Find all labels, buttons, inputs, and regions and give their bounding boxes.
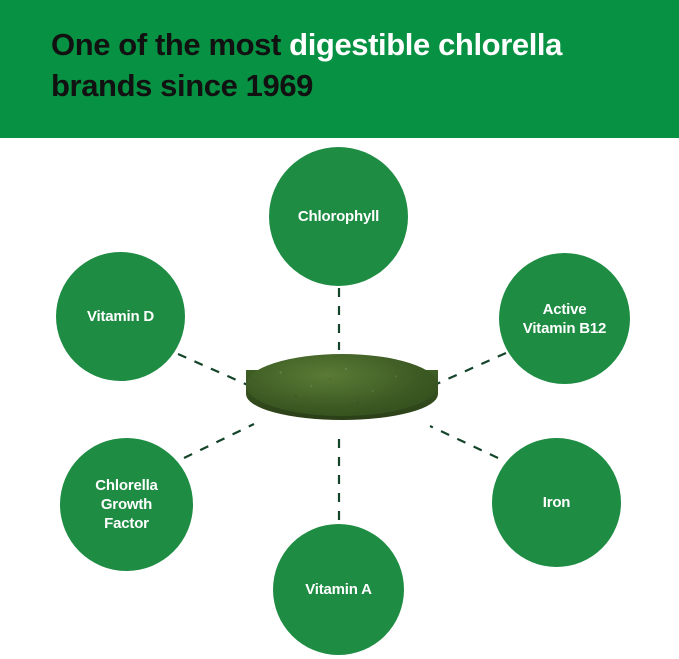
- title-line1-highlight: digestible chlorella: [289, 27, 562, 62]
- chlorella-benefits-infographic: One of the most digestible chlorella bra…: [0, 0, 679, 659]
- radial-diagram: Chlorophyll Active Vitamin B12 Vitamin D…: [0, 138, 679, 659]
- node-chlorella-growth-factor-label: Chlorella Growth Factor: [85, 476, 167, 533]
- tablet-texture: [246, 354, 438, 416]
- node-iron-label: Iron: [533, 493, 581, 512]
- connector-iron: [430, 426, 498, 458]
- node-active-vitamin-b12-label: Active Vitamin B12: [513, 300, 616, 338]
- header-banner: One of the most digestible chlorella bra…: [0, 0, 679, 138]
- node-chlorella-growth-factor[interactable]: Chlorella Growth Factor: [60, 438, 193, 571]
- connector-active-vitamin-b12: [432, 353, 506, 386]
- connector-vitamin-d: [178, 354, 250, 386]
- connector-chlorella-growth-factor: [184, 424, 254, 458]
- title-line1-plain: One of the most: [51, 27, 289, 62]
- node-chlorophyll[interactable]: Chlorophyll: [269, 147, 408, 286]
- node-vitamin-a-label: Vitamin A: [295, 580, 382, 599]
- chlorella-tablet: [246, 354, 438, 426]
- title-line2: brands since 1969: [51, 68, 313, 103]
- node-iron[interactable]: Iron: [492, 438, 621, 567]
- node-chlorophyll-label: Chlorophyll: [288, 207, 389, 226]
- node-active-vitamin-b12[interactable]: Active Vitamin B12: [499, 253, 630, 384]
- node-vitamin-d-label: Vitamin D: [77, 307, 164, 326]
- node-vitamin-a[interactable]: Vitamin A: [273, 524, 404, 655]
- page-title: One of the most digestible chlorella bra…: [51, 24, 651, 106]
- node-vitamin-d[interactable]: Vitamin D: [56, 252, 185, 381]
